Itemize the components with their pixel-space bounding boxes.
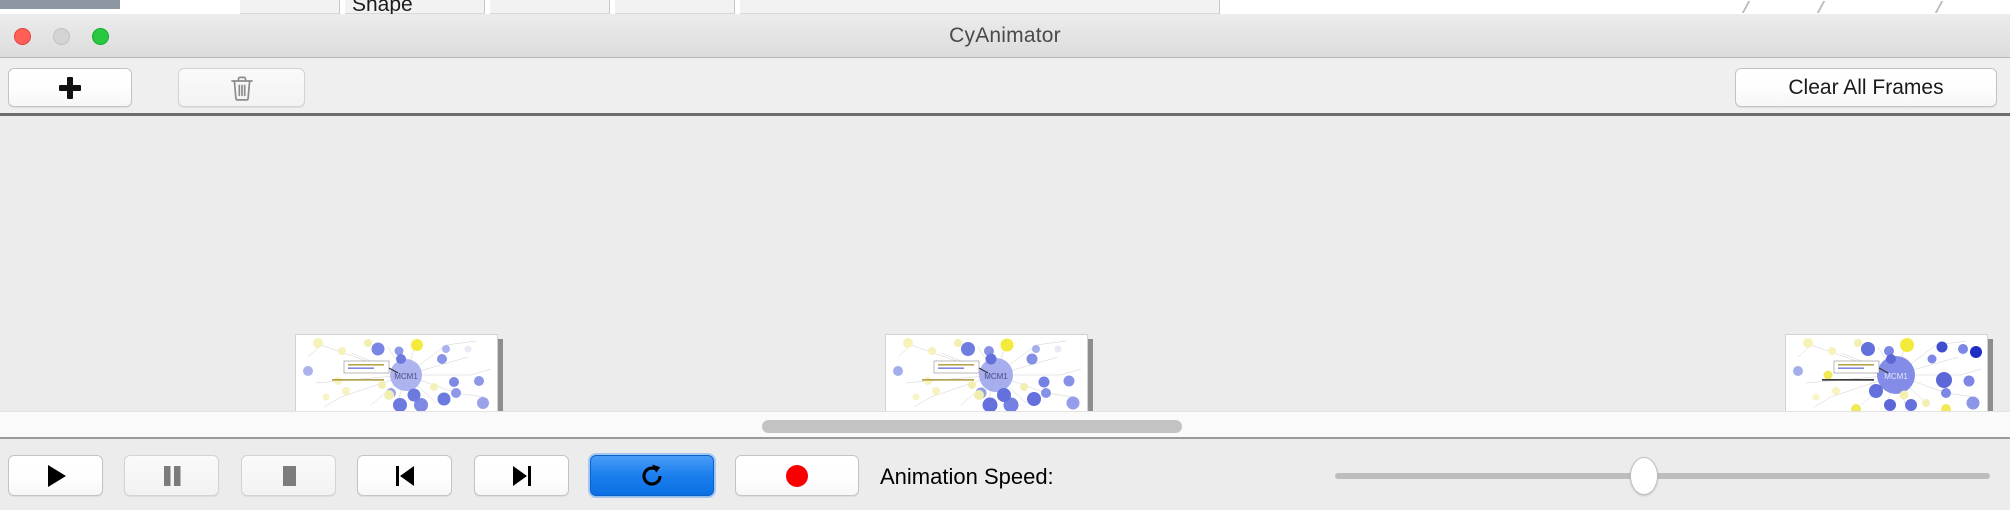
first-frame-button[interactable] xyxy=(357,455,452,496)
add-frame-button[interactable] xyxy=(8,68,132,107)
loop-button[interactable] xyxy=(590,455,714,496)
play-icon xyxy=(45,464,67,488)
animation-speed-thumb[interactable] xyxy=(1630,457,1658,495)
background-glyph-icon xyxy=(1935,1,1953,13)
animation-speed-slider[interactable] xyxy=(1335,473,1990,479)
loop-icon xyxy=(639,463,665,489)
plus-icon xyxy=(58,76,82,100)
delete-frame-button[interactable] xyxy=(178,68,305,107)
scrollbar-thumb[interactable] xyxy=(762,420,1182,433)
timeline-frame[interactable]: MCM1 xyxy=(295,334,503,411)
timeline-scrollbar[interactable] xyxy=(0,411,2010,439)
background-toolbar-chip xyxy=(615,0,735,14)
animation-speed-label: Animation Speed: xyxy=(880,464,1054,490)
background-glyph-icon xyxy=(1817,1,1835,13)
background-toolbar-chip xyxy=(490,0,610,14)
last-frame-button[interactable] xyxy=(474,455,569,496)
skip-back-icon xyxy=(393,464,417,488)
playback-bar: Animation Speed: xyxy=(0,441,2010,510)
timeline-frame[interactable]: MCM1 xyxy=(885,334,1093,411)
frame-hub-label: MCM1 xyxy=(394,372,418,381)
stop-icon xyxy=(278,464,300,488)
network-thumbnail-icon: MCM1 xyxy=(886,335,1088,411)
timeline-panel[interactable]: MCM1 xyxy=(0,119,2010,411)
clear-all-frames-button[interactable]: Clear All Frames xyxy=(1735,68,1997,107)
background-toolbar-chip xyxy=(240,0,340,14)
background-glyph-icon xyxy=(1742,1,1760,13)
network-thumbnail-icon: MCM1 xyxy=(1786,335,1988,411)
toolbar: Clear All Frames xyxy=(0,58,2010,116)
frame-thumbnail: MCM1 xyxy=(295,334,498,411)
network-thumbnail-icon: MCM1 xyxy=(296,335,498,411)
title-bar: CyAnimator xyxy=(0,14,2010,58)
cyanimator-window: Shape CyAnimator Clear All Frames xyxy=(0,0,2010,510)
frame-hub-label: MCM1 xyxy=(984,372,1008,381)
play-button[interactable] xyxy=(8,455,103,496)
timeline-frame[interactable]: MCM1 xyxy=(1785,334,1993,411)
window-title: CyAnimator xyxy=(0,14,2010,58)
background-title-chip xyxy=(0,0,120,9)
pause-button[interactable] xyxy=(124,455,219,496)
background-toolbar-chip xyxy=(740,0,1220,14)
background-partial-label: Shape xyxy=(352,0,413,14)
skip-forward-icon xyxy=(510,464,534,488)
background-window-strip: Shape xyxy=(0,0,2010,14)
frame-hub-label: MCM1 xyxy=(1884,372,1908,381)
clear-all-frames-label: Clear All Frames xyxy=(1788,76,1943,100)
pause-icon xyxy=(161,464,183,488)
record-icon xyxy=(786,465,808,487)
stop-button[interactable] xyxy=(241,455,336,496)
trash-icon xyxy=(229,74,255,102)
frame-thumbnail: MCM1 xyxy=(1785,334,1988,411)
frame-thumbnail: MCM1 xyxy=(885,334,1088,411)
record-button[interactable] xyxy=(735,455,859,496)
